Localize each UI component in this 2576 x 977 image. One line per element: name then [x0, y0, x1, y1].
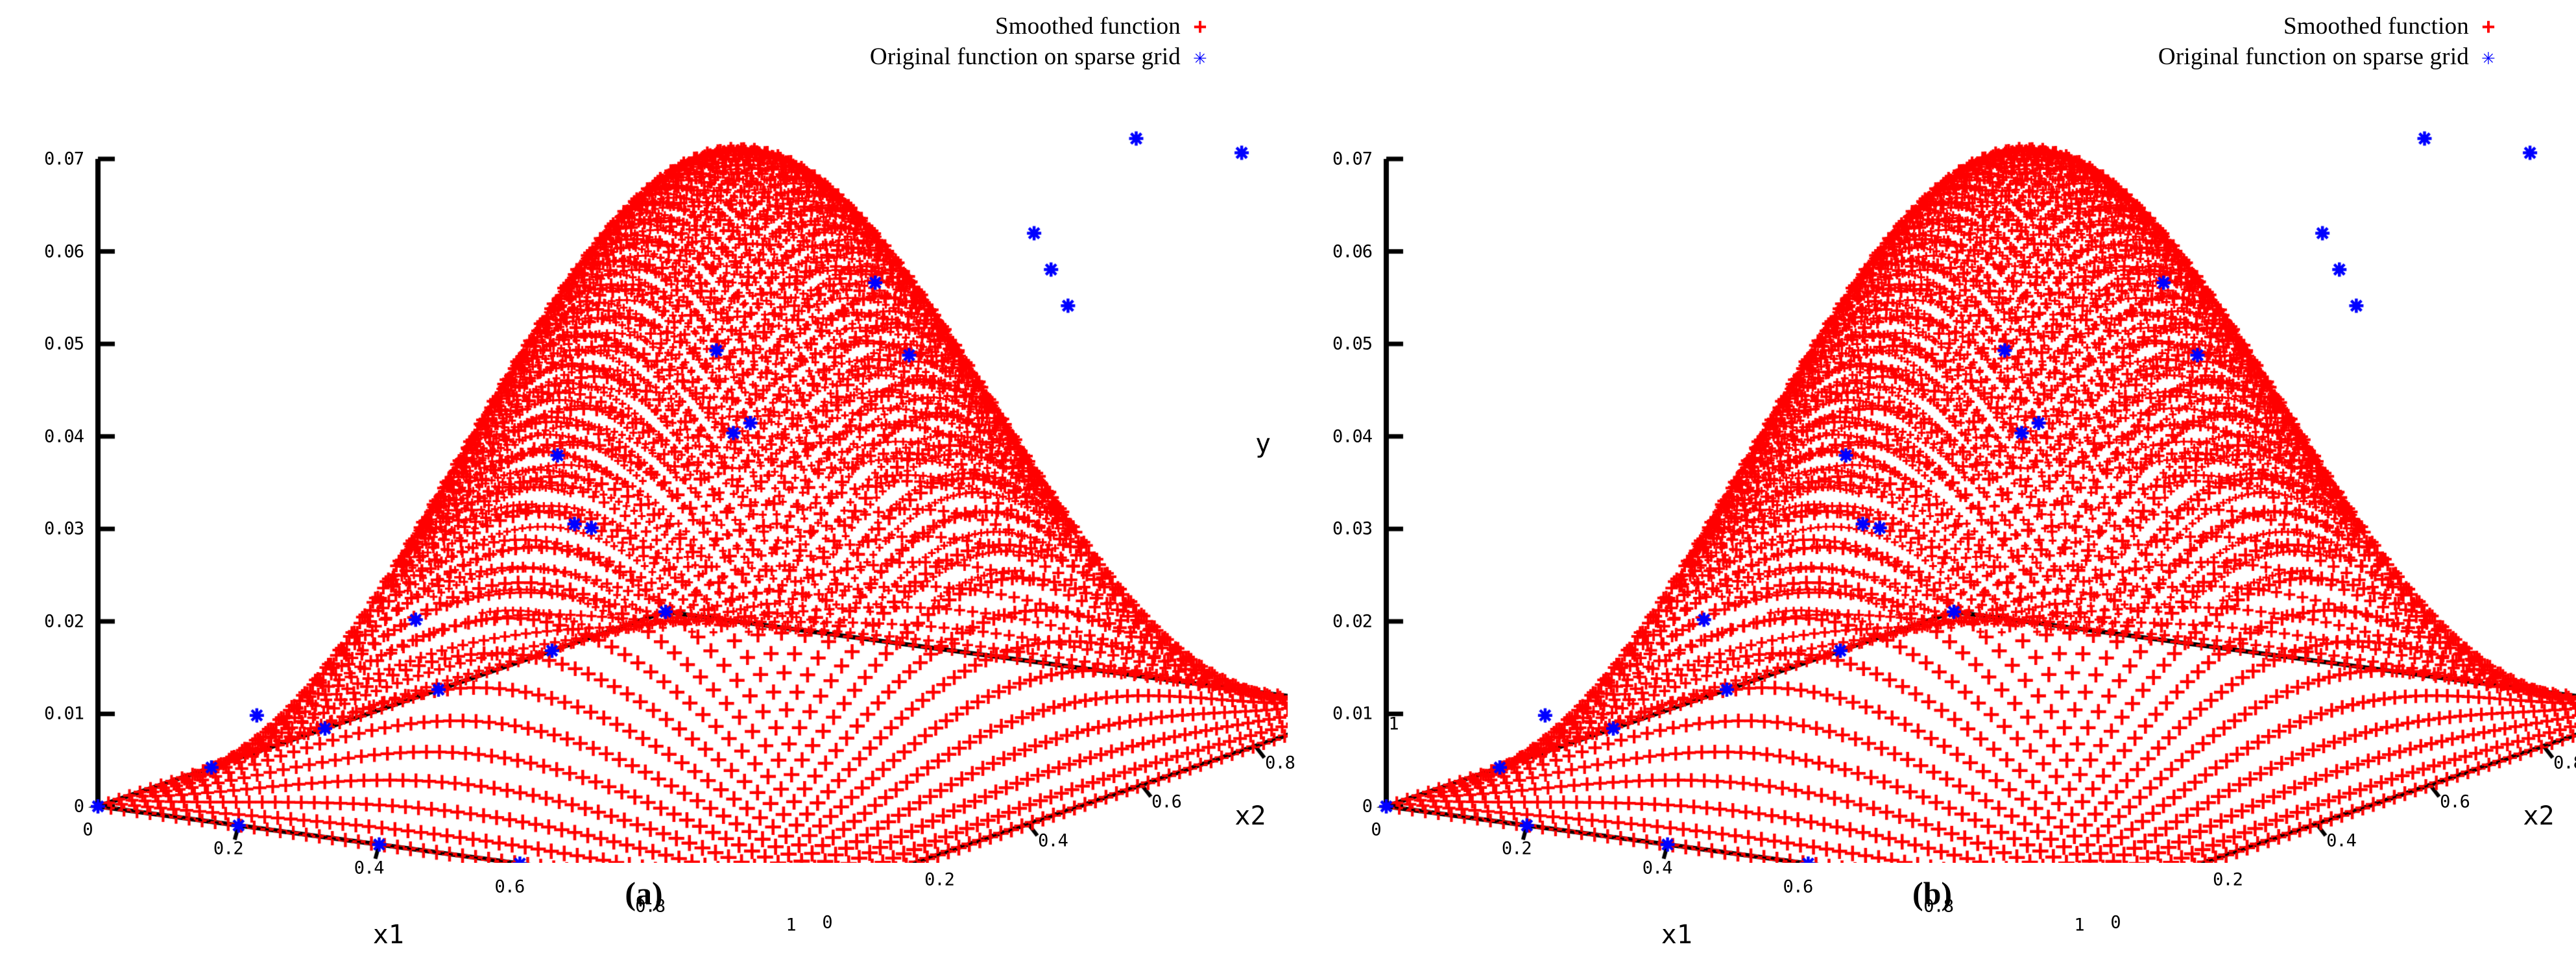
- x1-axis-tick-label: 1: [786, 915, 795, 935]
- x1-axis-tick-label: 0: [82, 820, 92, 840]
- y-axis-tick-label: 0.03: [44, 519, 84, 539]
- subfigure-caption-b: (b): [1288, 874, 2576, 912]
- y-axis-tick-label: 0.04: [1332, 426, 1372, 446]
- y-axis-tick-label: 0.05: [44, 334, 84, 354]
- y-axis-tick-label: 0.05: [1332, 334, 1372, 354]
- x2-axis-tick-label: 0.6: [2440, 792, 2470, 812]
- legend-label-smoothed: Smoothed function: [995, 13, 1181, 40]
- plot-area-a: 00.010.020.030.040.050.060.0700.20.40.60…: [0, 97, 1288, 863]
- panel-b: Smoothed function + Original function on…: [1288, 0, 2576, 977]
- surface-plot-canvas-a: [0, 97, 1288, 863]
- y-axis-tick-label: 0.07: [1332, 149, 1372, 169]
- y-axis-tick-label: 0.02: [44, 611, 84, 631]
- legend-panel-a: Smoothed function + Original function on…: [562, 14, 1211, 75]
- panel-a: Smoothed function + Original function on…: [0, 0, 1288, 977]
- y-axis-tick-label: 0.07: [44, 149, 84, 169]
- y-axis-title: y: [1255, 429, 1271, 459]
- legend-entry-original: Original function on sparse grid ✳: [562, 45, 1211, 69]
- x1-axis-title: x1: [373, 920, 404, 950]
- x1-axis-tick-label: 0.2: [1502, 839, 1532, 859]
- x1-axis-tick-label: 0.2: [213, 839, 243, 859]
- legend-label-smoothed: Smoothed function: [2283, 13, 2469, 40]
- legend-entry-smoothed: Smoothed function +: [562, 14, 1211, 38]
- y-axis-tick-label: 0.06: [44, 241, 84, 261]
- asterisk-marker-icon: ✳: [1189, 48, 1211, 66]
- y-axis-tick-label: 0.02: [1332, 611, 1372, 631]
- y-axis-tick-label: 0.04: [44, 426, 84, 446]
- y-axis-tick-label: 0: [74, 797, 84, 817]
- surface-plot-canvas-b: [1288, 97, 2576, 863]
- x2-axis-title: x2: [2523, 801, 2554, 831]
- asterisk-marker-icon: ✳: [2477, 48, 2499, 66]
- legend-entry-smoothed: Smoothed function +: [1851, 14, 2499, 38]
- plot-area-b: 00.010.020.030.040.050.060.0700.20.40.60…: [1288, 97, 2576, 863]
- legend-entry-original: Original function on sparse grid ✳: [1851, 45, 2499, 69]
- x2-axis-tick-label: 0.4: [1038, 831, 1068, 851]
- x2-axis-tick-label: 0.8: [2553, 753, 2576, 773]
- y-axis-tick-label: 0.06: [1332, 241, 1372, 261]
- x2-axis-tick-label: 0.6: [1151, 792, 1181, 812]
- x2-axis-tick-label: 0.4: [2326, 831, 2356, 851]
- plus-marker-icon: +: [1189, 18, 1211, 36]
- y-axis-tick-label: 0.01: [1332, 704, 1372, 724]
- plus-marker-icon: +: [2477, 18, 2499, 36]
- y-axis-tick-label: 0: [1362, 797, 1372, 817]
- legend-label-original: Original function on sparse grid: [2158, 43, 2469, 70]
- x2-axis-tick-label: 0: [2110, 913, 2120, 933]
- subfigure-caption-a: (a): [0, 874, 1288, 912]
- x1-axis-tick-label: 1: [2074, 915, 2084, 935]
- x2-axis-title: x2: [1234, 801, 1266, 831]
- y-axis-tick-label: 0.03: [1332, 519, 1372, 539]
- x1-axis-tick-label: 0: [1371, 820, 1380, 840]
- figure-two-surface-plots: Smoothed function + Original function on…: [0, 0, 2576, 977]
- legend-label-original: Original function on sparse grid: [870, 43, 1181, 70]
- x1-axis-title: x1: [1661, 920, 1692, 950]
- x2-axis-tick-label: 0: [822, 913, 832, 933]
- legend-panel-b: Smoothed function + Original function on…: [1851, 14, 2499, 75]
- y-axis-tick-label: 0.01: [44, 704, 84, 724]
